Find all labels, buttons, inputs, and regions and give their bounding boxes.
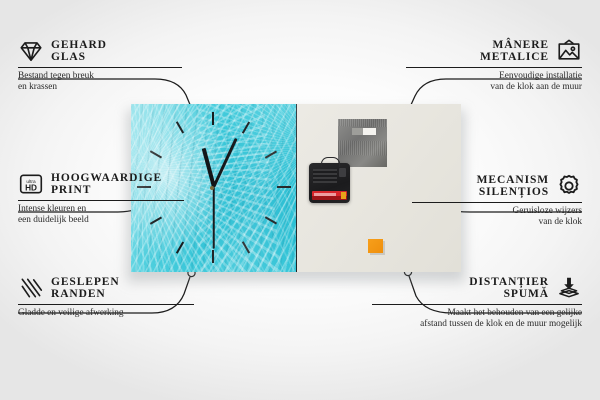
orange-wall-spacer <box>368 239 383 253</box>
mechanism-grill <box>313 169 337 183</box>
infographic-canvas: GEHARDGLAS Bestand tegen breuk en krasse… <box>0 0 600 400</box>
clock-tick <box>265 151 277 159</box>
callout-header: GESLEPENRANDEN <box>18 275 198 301</box>
callout-title: HOOGWAARDIGEPRINT <box>51 172 162 197</box>
ultra-hd-icon: ultra HD <box>18 171 44 197</box>
svg-text:HD: HD <box>25 184 37 193</box>
battery-terminal <box>341 192 346 199</box>
callout-description: Geruisloze wijzers van de klok <box>412 206 582 228</box>
callout-title: MÂNEREMETALICE <box>406 39 549 64</box>
callout-gehard-glas: GEHARDGLAS Bestand tegen breuk en krasse… <box>18 38 186 94</box>
clock-tick <box>176 241 184 253</box>
clock-tick <box>176 121 184 133</box>
callout-header: ultra HD HOOGWAARDIGEPRINT <box>18 171 188 197</box>
callout-mecanism-silentios: MECANISMSILENȚIOS Geruisloze wijzers van… <box>412 173 582 229</box>
metal-mounting-plate <box>338 119 387 167</box>
spacer-foam-icon <box>556 275 582 301</box>
callout-rule <box>372 304 582 305</box>
beveled-edges-icon <box>18 275 44 301</box>
callout-title: GEHARDGLAS <box>51 39 107 64</box>
battery-label <box>314 193 336 196</box>
metal-hanger-icon <box>321 157 340 167</box>
diamond-icon <box>18 38 44 64</box>
plate-label <box>352 128 376 135</box>
callout-distantier-spuma: DISTANȚIERSPUMĂ Maakt het behouden van e… <box>372 275 582 331</box>
clock-tick <box>242 121 250 133</box>
quartz-clock-mechanism <box>309 163 350 203</box>
callout-description: Intense kleuren en een duidelijk beeld <box>18 204 188 226</box>
clock-tick <box>277 186 291 188</box>
picture-hanger-icon <box>556 38 582 64</box>
callout-rule <box>406 67 582 68</box>
callout-header: GEHARDGLAS <box>18 38 186 64</box>
callout-title: MECANISMSILENȚIOS <box>412 174 549 199</box>
clock-tick <box>150 151 162 159</box>
callout-hoogwaardige-print: ultra HD HOOGWAARDIGEPRINT Intense kleur… <box>18 171 188 227</box>
callout-rule <box>18 67 182 68</box>
aa-battery <box>312 191 347 200</box>
clock-second-hand <box>213 187 215 249</box>
callout-geslepen-randen: GESLEPENRANDEN Gladde en veilige afwerki… <box>18 275 198 319</box>
gear-icon <box>556 173 582 199</box>
callout-title: GESLEPENRANDEN <box>51 276 120 301</box>
clock-tick <box>212 112 214 125</box>
callout-rule <box>412 202 582 203</box>
clock-tick <box>265 217 277 225</box>
callout-rule <box>18 304 194 305</box>
callout-manere-metalice: MÂNEREMETALICE Eenvoudige installatie va… <box>406 38 582 94</box>
callout-rule <box>18 200 184 201</box>
clock-center-pivot <box>210 186 214 190</box>
callout-description: Bestand tegen breuk en krassen <box>18 71 186 93</box>
callout-header: MECANISMSILENȚIOS <box>412 173 582 199</box>
callout-title: DISTANȚIERSPUMĂ <box>372 276 549 301</box>
clock-tick <box>242 241 250 253</box>
callout-description: Maakt het behouden van een gelijke afsta… <box>372 308 582 330</box>
mechanism-knob <box>339 168 346 177</box>
clock-tick <box>212 250 214 263</box>
callout-header: DISTANȚIERSPUMĂ <box>372 275 582 301</box>
callout-header: MÂNEREMETALICE <box>406 38 582 64</box>
callout-description: Gladde en veilige afwerking <box>18 308 198 319</box>
callout-description: Eenvoudige installatie van de klok aan d… <box>406 71 582 93</box>
clock-minute-hand <box>212 138 237 187</box>
